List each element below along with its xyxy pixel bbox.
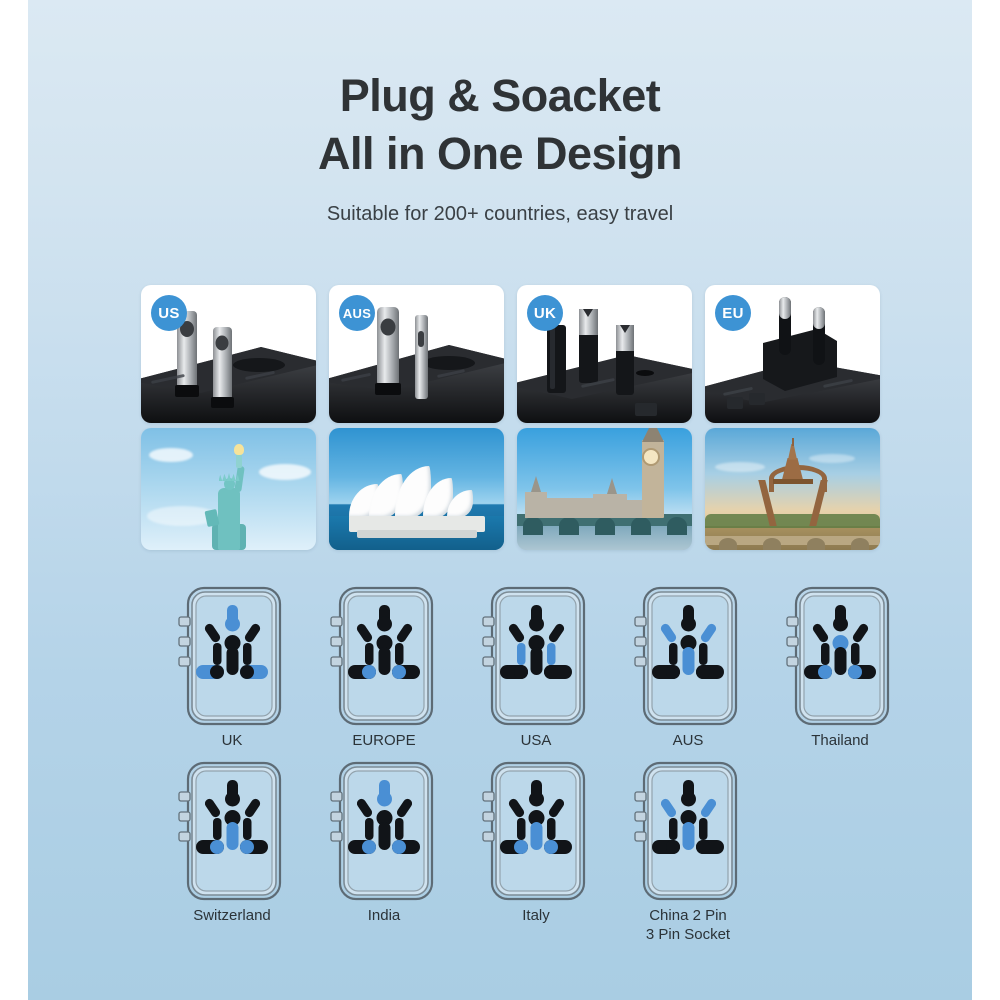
socket-side-clips [179, 792, 190, 841]
page-subtitle: Suitable for 200+ countries, easy travel [28, 203, 972, 226]
socket-face [330, 585, 438, 727]
socket-side-clips [483, 792, 494, 841]
socket-face [482, 760, 590, 902]
socket-item-uk[interactable]: UK [178, 585, 286, 727]
socket-label: Italy [456, 906, 616, 925]
socket-face [634, 760, 742, 902]
landmark-card-statue-of-liberty[interactable] [141, 428, 316, 550]
page-title-line2: All in One Design [28, 128, 972, 180]
socket-face [178, 760, 286, 902]
socket-face [786, 585, 894, 727]
socket-item-thailand[interactable]: Thailand [786, 585, 894, 727]
socket-side-clips [331, 792, 342, 841]
page-title-line1: Plug & Soacket [28, 70, 972, 122]
socket-item-india[interactable]: India [330, 760, 438, 902]
socket-face [178, 585, 286, 727]
socket-face [330, 760, 438, 902]
landmark-card-big-ben[interactable] [517, 428, 692, 550]
socket-side-clips [331, 617, 342, 666]
socket-side-clips [635, 617, 646, 666]
plug-card-eu[interactable]: EU [705, 285, 880, 423]
content-area: Plug & Soacket All in One Design Suitabl… [28, 0, 972, 1000]
socket-label: USA [456, 731, 616, 750]
socket-item-china-2-pin-3-pin-socket[interactable]: China 2 Pin 3 Pin Socket [634, 760, 742, 902]
socket-item-europe[interactable]: EUROPE [330, 585, 438, 727]
badge-us: US [151, 295, 187, 331]
socket-side-clips [179, 617, 190, 666]
sydney-opera-house-image [329, 428, 504, 550]
badge-eu: EU [715, 295, 751, 331]
socket-side-clips [483, 617, 494, 666]
socket-label: EUROPE [304, 731, 464, 750]
badge-uk: UK [527, 295, 563, 331]
socket-item-italy[interactable]: Italy [482, 760, 590, 902]
big-ben-image [517, 428, 692, 550]
plug-card-aus[interactable]: AUS [329, 285, 504, 423]
plug-card-us[interactable]: US [141, 285, 316, 423]
socket-item-usa[interactable]: USA [482, 585, 590, 727]
socket-label: AUS [608, 731, 768, 750]
socket-label: Switzerland [152, 906, 312, 925]
socket-side-clips [635, 792, 646, 841]
socket-label: India [304, 906, 464, 925]
socket-label: UK [152, 731, 312, 750]
socket-item-switzerland[interactable]: Switzerland [178, 760, 286, 902]
infographic-page: Plug & Soacket All in One Design Suitabl… [0, 0, 1000, 1000]
socket-face [634, 585, 742, 727]
landmark-card-opera-house[interactable] [329, 428, 504, 550]
landmark-card-eiffel-tower[interactable] [705, 428, 880, 550]
plug-card-uk[interactable]: UK [517, 285, 692, 423]
eiffel-tower-image [705, 428, 880, 550]
socket-face [482, 585, 590, 727]
socket-side-clips [787, 617, 798, 666]
badge-aus: AUS [339, 295, 375, 331]
statue-of-liberty-image [141, 428, 316, 550]
socket-label: Thailand [760, 731, 920, 750]
socket-item-aus[interactable]: AUS [634, 585, 742, 727]
socket-label: China 2 Pin 3 Pin Socket [608, 906, 768, 944]
